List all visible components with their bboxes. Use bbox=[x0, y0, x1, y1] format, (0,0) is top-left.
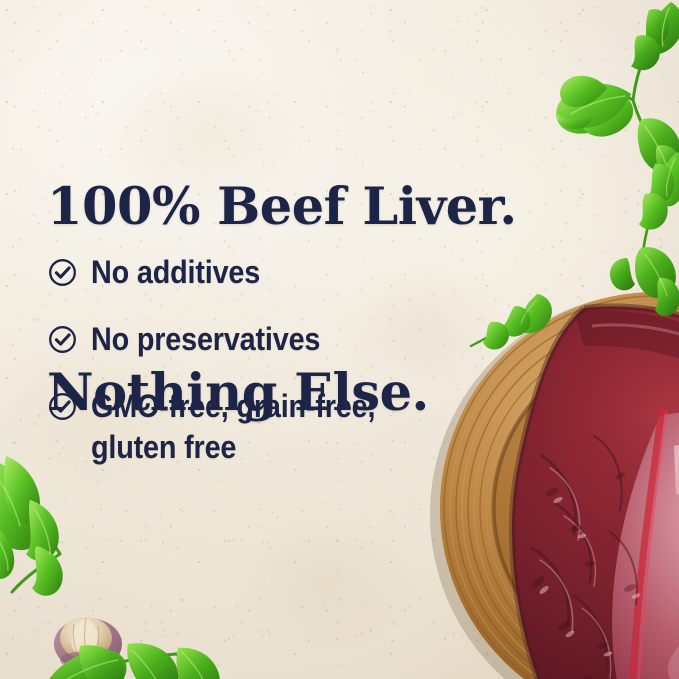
list-item-no-preservatives: No preservatives bbox=[48, 319, 468, 360]
circle-check-icon bbox=[48, 258, 77, 287]
list-item-label: No additives bbox=[91, 252, 260, 293]
parsley-sprig-mid-right-image bbox=[581, 150, 679, 320]
product-graphic-canvas: 100% Beef Liver. Nothing Else. No additi… bbox=[0, 0, 679, 679]
headline-line-1: 100% Beef Liver. bbox=[47, 176, 567, 238]
circle-check-icon bbox=[48, 392, 77, 421]
list-item-no-additives: No additives bbox=[48, 252, 468, 293]
list-item-free-from: GMO-free, grain-free, gluten free bbox=[48, 386, 468, 468]
feature-bullet-list: No additives No preservatives GMO-free, … bbox=[48, 252, 468, 468]
list-item-label: GMO-free, grain-free, gluten free bbox=[91, 386, 375, 468]
list-item-label: No preservatives bbox=[91, 319, 320, 360]
circle-check-icon bbox=[48, 325, 77, 354]
parsley-sprig-bottom-left-lower-image bbox=[36, 592, 226, 679]
